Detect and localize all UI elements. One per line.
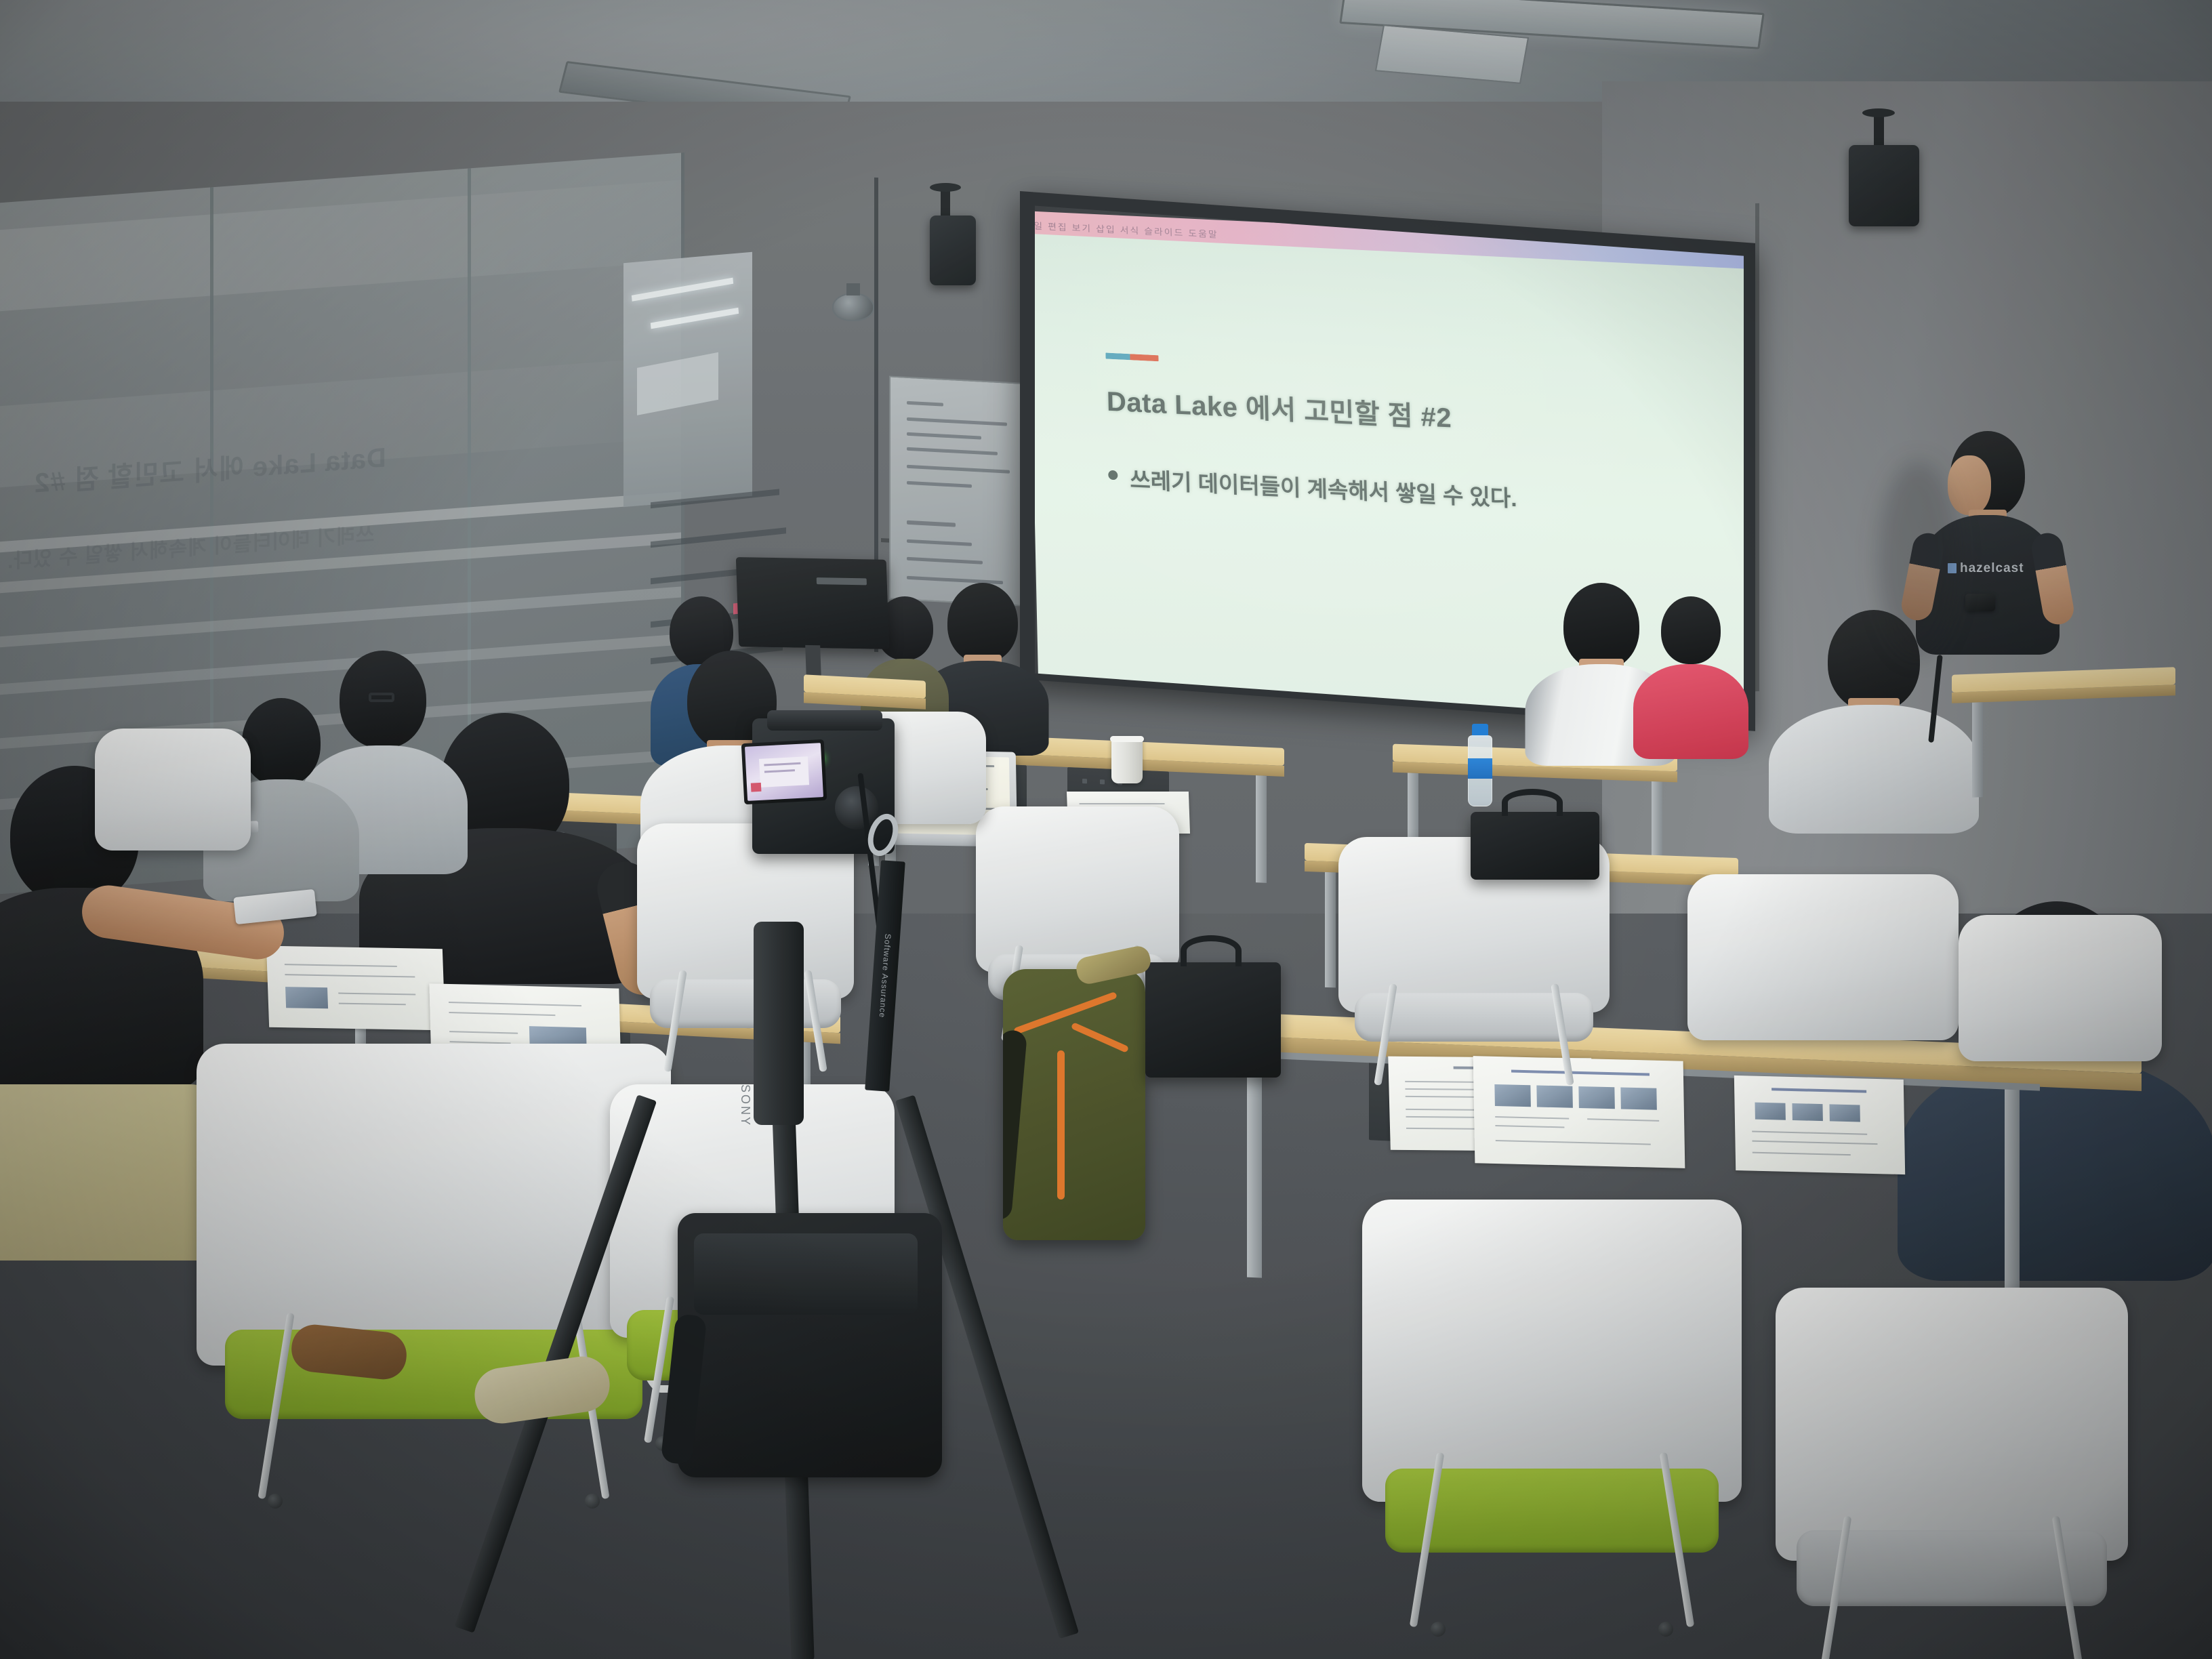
bag-handle (1502, 789, 1563, 816)
paper-cup-center[interactable] (1111, 736, 1143, 783)
bag-handle (1181, 935, 1242, 966)
ceiling-dome-camera (832, 293, 874, 321)
accent-segment-right (1130, 354, 1158, 361)
glasses-icon (369, 693, 394, 702)
desk-podium (1952, 667, 2175, 756)
room-scene: Data Lake 에서 고민할 점 #2 쓰레기 데이터들이 계속해서 쌓일 … (0, 0, 2212, 1659)
slide-bullet-item: 쓰레기 데이터들이 계속해서 쌓일 수 있다. (1108, 461, 1744, 525)
slide-accent-bar (1105, 352, 1158, 361)
wall-speaker-left (930, 216, 976, 285)
lanyard-text: Software Assurance (878, 933, 893, 1018)
wall-speaker-right (1849, 145, 1919, 226)
attendee-torso (1633, 664, 1748, 759)
attendee-front-left-legs (0, 1084, 230, 1261)
wall-speaker-left-plate (930, 183, 961, 192)
camera-bag-flap (694, 1233, 918, 1315)
water-bottle[interactable] (1464, 724, 1496, 806)
backpack-olive[interactable] (1003, 969, 1145, 1240)
accent-segment-left (1105, 352, 1130, 360)
camcorder-lcd-preview (745, 743, 823, 801)
slide-bullet-text: 쓰레기 데이터들이 계속해서 쌓일 수 있다. (1130, 462, 1517, 513)
presenter-shadow (1877, 461, 1959, 657)
wall-speaker-left-bracket (941, 188, 950, 218)
tripod-brand-label: SONY (738, 1084, 752, 1127)
bottle-label (1468, 758, 1492, 778)
backpack-zipper-top (1013, 991, 1118, 1035)
tripod-column (754, 922, 804, 1125)
glass-door-lit-corridor (623, 252, 752, 508)
backpack-zipper-main (1057, 1050, 1065, 1200)
attendee-head (1661, 596, 1721, 664)
bullet-dot-icon (1108, 470, 1118, 480)
chair-back-left[interactable] (95, 729, 251, 898)
attendee-right-pink-hoodie (1633, 596, 1748, 759)
bag-black[interactable] (1145, 962, 1281, 1078)
wall-seam-3 (1755, 203, 1759, 691)
chair-foreground-right-1[interactable] (1362, 1200, 1742, 1620)
slide-bullet-list: 쓰레기 데이터들이 계속해서 쌓일 수 있다. (1108, 461, 1744, 525)
chair-foreground-left[interactable] (197, 1044, 671, 1491)
camcorder-lens (835, 786, 878, 829)
monitor-vent (817, 577, 867, 585)
backpack-zipper-side (1071, 1022, 1129, 1053)
backpack-shoulder-strap (1003, 1029, 1027, 1221)
attendee-torso (1769, 705, 1979, 834)
chair-foreground-right-2[interactable] (1776, 1288, 2128, 1659)
camcorder-top-handle (767, 710, 882, 731)
chair-far-right[interactable] (1959, 915, 2162, 1118)
bag-black-on-chair[interactable] (1471, 812, 1599, 880)
camera-bag-foreground[interactable] (678, 1213, 942, 1477)
wall-speaker-right-bracket (1874, 114, 1884, 145)
attendee-head (947, 583, 1018, 663)
presenter-face (1948, 455, 1991, 515)
ceiling-dome-camera-mount (846, 283, 860, 295)
presenter-clicker[interactable] (1965, 594, 1995, 611)
camcorder-lcd-screen (741, 739, 827, 804)
chair-right-mid[interactable] (1687, 874, 1959, 1105)
attendee-head (1563, 583, 1639, 670)
whiteboard (889, 375, 1033, 607)
attendee-head (242, 698, 321, 786)
monitor-back-panel (736, 557, 889, 649)
podium-monitor (736, 557, 889, 649)
slide-title: Data Lake 에서 고민할 점 #2 (1106, 380, 1742, 450)
presenter-shirt-logo: hazelcast (1948, 561, 2024, 576)
handout-sheet[interactable] (266, 946, 445, 1031)
wall-speaker-right-plate (1862, 108, 1895, 117)
